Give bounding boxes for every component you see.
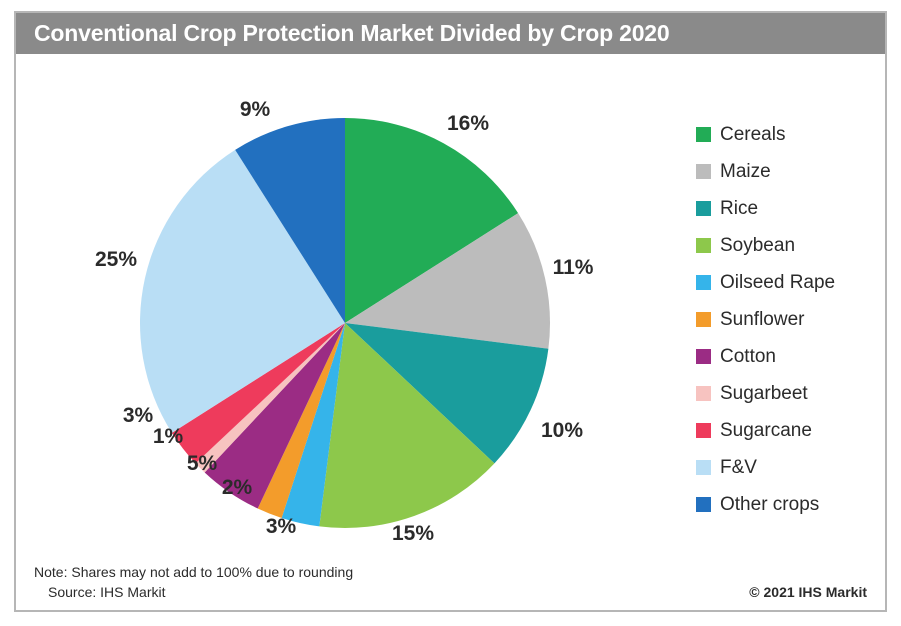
legend-swatch-icon <box>696 238 711 253</box>
pie-percent-label: 3% <box>266 515 296 539</box>
legend-item-label: Cotton <box>720 346 776 368</box>
legend-item-label: Maize <box>720 161 771 183</box>
legend-item[interactable]: Sunflower <box>696 301 876 338</box>
legend-item[interactable]: Oilseed Rape <box>696 264 876 301</box>
legend-swatch-icon <box>696 386 711 401</box>
page-title: Conventional Crop Protection Market Divi… <box>34 20 669 47</box>
pie-percent-label: 10% <box>541 419 583 443</box>
legend-item[interactable]: Soybean <box>696 227 876 264</box>
legend-item-label: Sunflower <box>720 309 805 331</box>
legend-swatch-icon <box>696 164 711 179</box>
chart-title-bar: Conventional Crop Protection Market Divi… <box>16 13 885 54</box>
legend-swatch-icon <box>696 312 711 327</box>
footnote-source: Source: IHS Markit <box>48 584 165 600</box>
legend-item[interactable]: Cotton <box>696 338 876 375</box>
legend-swatch-icon <box>696 127 711 142</box>
legend-swatch-icon <box>696 349 711 364</box>
legend-item[interactable]: Sugarcane <box>696 412 876 449</box>
legend-swatch-icon <box>696 423 711 438</box>
pie-percent-label: 2% <box>222 476 252 500</box>
legend-item-label: Rice <box>720 198 758 220</box>
legend-swatch-icon <box>696 460 711 475</box>
pie-percent-label: 9% <box>240 98 270 122</box>
footnote-note: Note: Shares may not add to 100% due to … <box>34 564 353 580</box>
chart-legend: CerealsMaizeRiceSoybeanOilseed RapeSunfl… <box>696 116 876 523</box>
chart-footer: Note: Shares may not add to 100% due to … <box>16 562 885 610</box>
legend-item[interactable]: Maize <box>696 153 876 190</box>
pie-percent-label: 1% <box>153 425 183 449</box>
plot-area: 16%11%10%15%3%2%5%1%3%25%9% CerealsMaize… <box>16 54 885 566</box>
legend-item-label: Other crops <box>720 494 819 516</box>
pie-percent-label: 15% <box>392 522 434 546</box>
legend-item-label: Sugarbeet <box>720 383 808 405</box>
pie-percent-label: 25% <box>95 248 137 272</box>
pie-percent-label: 3% <box>123 404 153 428</box>
footnote-copyright: © 2021 IHS Markit <box>749 584 867 600</box>
legend-item[interactable]: Sugarbeet <box>696 375 876 412</box>
pie-percent-label: 16% <box>447 112 489 136</box>
legend-swatch-icon <box>696 201 711 216</box>
legend-item-label: F&V <box>720 457 757 479</box>
legend-item[interactable]: Rice <box>696 190 876 227</box>
legend-item-label: Soybean <box>720 235 795 257</box>
legend-item[interactable]: Other crops <box>696 486 876 523</box>
pie-percent-label: 5% <box>187 452 217 476</box>
legend-swatch-icon <box>696 497 711 512</box>
legend-item-label: Sugarcane <box>720 420 812 442</box>
legend-swatch-icon <box>696 275 711 290</box>
legend-item-label: Cereals <box>720 124 785 146</box>
legend-item-label: Oilseed Rape <box>720 272 835 294</box>
pie-percent-label: 11% <box>553 256 594 280</box>
legend-item[interactable]: Cereals <box>696 116 876 153</box>
chart-figure: Conventional Crop Protection Market Divi… <box>14 11 887 612</box>
legend-item[interactable]: F&V <box>696 449 876 486</box>
